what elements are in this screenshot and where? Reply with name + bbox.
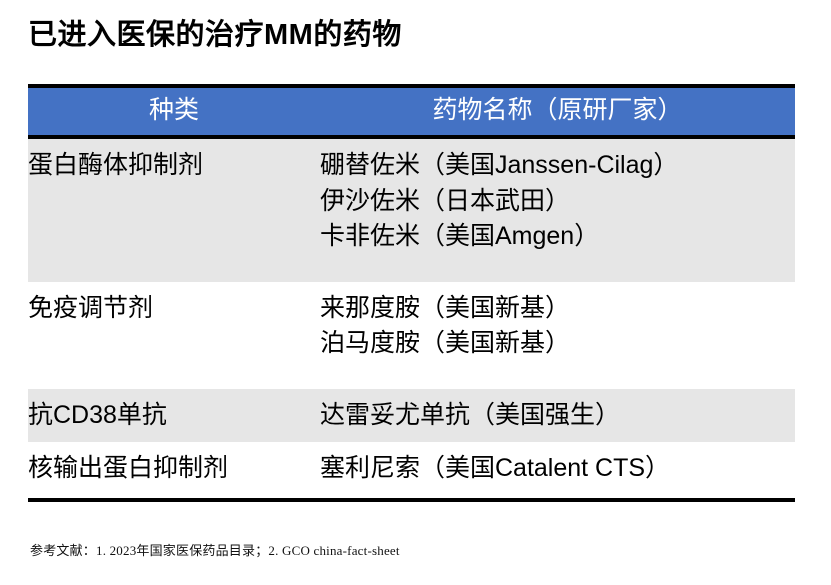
row-spacer xyxy=(320,255,795,273)
cell-category: 免疫调节剂 xyxy=(28,282,320,389)
table-row: 抗CD38单抗 达雷妥尤单抗（美国强生） xyxy=(28,389,795,443)
cell-drug-list: 来那度胺（美国新基） 泊马度胺（美国新基） xyxy=(320,282,795,389)
cell-category: 蛋白酶体抑制剂 xyxy=(28,137,320,282)
column-header-drug-name: 药物名称（原研厂家） xyxy=(320,86,795,137)
table-header: 种类 药物名称（原研厂家） xyxy=(28,86,795,137)
drug-name: 卡非佐米（美国Amgen） xyxy=(320,219,795,255)
reference-footnote: 参考文献：1. 2023年国家医保药品目录；2. GCO china-fact-… xyxy=(30,540,400,559)
cell-drug-list: 达雷妥尤单抗（美国强生） xyxy=(320,389,795,443)
table-row: 免疫调节剂 来那度胺（美国新基） 泊马度胺（美国新基） xyxy=(28,282,795,389)
row-spacer xyxy=(320,362,795,380)
table-row: 核输出蛋白抑制剂 塞利尼索（美国Catalent CTS） xyxy=(28,442,795,500)
drug-name: 达雷妥尤单抗（美国强生） xyxy=(320,398,795,434)
table-row: 蛋白酶体抑制剂 硼替佐米（美国Janssen-Cilag） 伊沙佐米（日本武田）… xyxy=(28,137,795,282)
cell-drug-list: 硼替佐米（美国Janssen-Cilag） 伊沙佐米（日本武田） 卡非佐米（美国… xyxy=(320,137,795,282)
cell-drug-list: 塞利尼索（美国Catalent CTS） xyxy=(320,442,795,500)
cell-category: 核输出蛋白抑制剂 xyxy=(28,442,320,500)
drug-name: 硼替佐米（美国Janssen-Cilag） xyxy=(320,148,795,184)
cell-category: 抗CD38单抗 xyxy=(28,389,320,443)
medicare-drug-table: 种类 药物名称（原研厂家） 蛋白酶体抑制剂 硼替佐米（美国Janssen-Cil… xyxy=(28,84,795,502)
drug-name: 泊马度胺（美国新基） xyxy=(320,326,795,362)
drug-name: 伊沙佐米（日本武田） xyxy=(320,184,795,220)
drug-name: 来那度胺（美国新基） xyxy=(320,291,795,327)
table-header-row: 种类 药物名称（原研厂家） xyxy=(28,86,795,137)
table-body: 蛋白酶体抑制剂 硼替佐米（美国Janssen-Cilag） 伊沙佐米（日本武田）… xyxy=(28,137,795,500)
page-title: 已进入医保的治疗MM的药物 xyxy=(28,16,402,55)
column-header-category: 种类 xyxy=(28,86,320,137)
drug-name: 塞利尼索（美国Catalent CTS） xyxy=(320,451,795,487)
slide-canvas: 已进入医保的治疗MM的药物 种类 药物名称（原研厂家） 蛋白酶体抑制剂 硼替佐米… xyxy=(0,0,831,585)
